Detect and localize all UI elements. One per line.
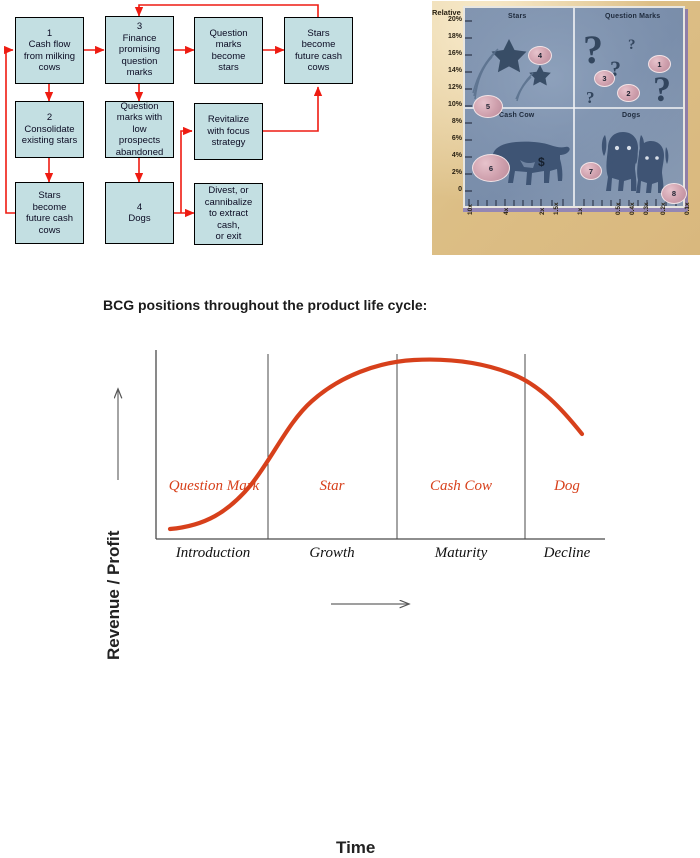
x-axis-title: Time [336, 838, 375, 858]
stage-label-maturity: Maturity [401, 545, 521, 562]
flow-box-question-marks-low-prospects-abandoned: Question marks with low prospects abando… [105, 101, 174, 158]
x-tick: 4x [503, 208, 510, 215]
flow-box-label: Question marks become stars [209, 28, 247, 74]
bcg-matrix-figure: ? ? ? ? ? $ [432, 1, 700, 255]
bubble-4: 4 [528, 46, 552, 65]
svg-text:?: ? [653, 69, 671, 109]
bubble-label: 6 [489, 164, 493, 173]
stage-label-decline: Decline [529, 545, 605, 562]
quadrant-label-question-marks: Question Marks [605, 13, 660, 20]
flow-box-dogs: 4 Dogs [105, 182, 174, 244]
bubble-label: 1 [657, 60, 661, 69]
phase-label-dog: Dog [529, 478, 605, 495]
quadrant-label-stars: Stars [508, 13, 527, 20]
bubble-1: 1 [648, 55, 671, 73]
quadrant-label-cash-cow: Cash Cow [499, 112, 534, 119]
flow-box-label: Question marks with low prospects abando… [116, 101, 164, 159]
bubble-7: 7 [580, 162, 602, 180]
x-tick: 0.2x [660, 202, 667, 215]
flow-box-stars-become-future-cash-cows-left: Stars become future cash cows [15, 182, 84, 244]
x-tick: 2x [539, 208, 546, 215]
phase-label-star: Star [272, 478, 392, 495]
flow-box-divest-or-cannibalize: Divest, or cannibalize to extract cash, … [194, 183, 263, 245]
y-tick: 0 [438, 186, 462, 193]
lifecycle-curve [170, 360, 582, 529]
y-tick: 6% [438, 135, 462, 142]
stage-label-introduction: Introduction [158, 545, 268, 562]
svg-text:?: ? [628, 37, 636, 53]
flow-box-stars-become-future-cash-cows-right: Stars become future cash cows [284, 17, 353, 84]
y-tick: 20% [438, 16, 462, 23]
x-tick: 0.4x [629, 202, 636, 215]
y-tick: 2% [438, 169, 462, 176]
quadrant-label-dogs: Dogs [622, 112, 640, 119]
bubble-label: 7 [589, 167, 593, 176]
flow-box-revitalize-with-focus-strategy: Revitalize with focus strategy [194, 103, 263, 160]
x-tick: 0.1x [684, 202, 691, 215]
y-axis-title: Revenue / Profit [104, 531, 124, 660]
flow-box-label: Divest, or cannibalize to extract cash, … [205, 185, 253, 243]
stage-label-growth: Growth [272, 545, 392, 562]
y-tick: 14% [438, 67, 462, 74]
x-tick: 0.3x [643, 202, 650, 215]
bubble-label: 5 [486, 102, 490, 111]
flow-box-consolidate-existing-stars: 2 Consolidate existing stars [15, 101, 84, 158]
x-tick: 10x [467, 204, 474, 215]
bubble-8: 8 [661, 183, 687, 204]
bubble-5: 5 [473, 95, 503, 118]
bubble-label: 2 [626, 89, 630, 98]
dollar-sign-icon: $ [538, 155, 545, 169]
bubble-label: 4 [538, 51, 542, 60]
y-tick: 4% [438, 152, 462, 159]
bubble-label: 3 [602, 74, 606, 83]
bubble-3: 3 [594, 70, 615, 87]
flow-box-label: Stars become future cash cows [26, 190, 73, 236]
phase-label-cash-cow: Cash Cow [401, 478, 521, 495]
x-tick: 1.5x [553, 202, 560, 215]
flow-box-label: 2 Consolidate existing stars [22, 112, 77, 147]
bcg-flowchart: 1 Cash flow from milking cows 2 Consolid… [0, 0, 400, 262]
flow-box-cash-flow-from-milking-cows: 1 Cash flow from milking cows [15, 17, 84, 84]
flow-box-label: Stars become future cash cows [295, 28, 342, 74]
bubble-2: 2 [617, 84, 640, 102]
bubble-6: 6 [472, 154, 510, 182]
flow-box-label: Revitalize with focus strategy [207, 114, 249, 149]
bcg-matrix-plot: ? ? ? ? ? $ [432, 1, 700, 255]
x-tick: 1x [577, 208, 584, 215]
y-tick: 8% [438, 118, 462, 125]
y-tick: 12% [438, 84, 462, 91]
flow-box-finance-promising-question-marks: 3 Finance promising question marks [105, 16, 174, 84]
flow-box-question-marks-become-stars: Question marks become stars [194, 17, 263, 84]
bubble-label: 8 [672, 189, 676, 198]
y-tick: 18% [438, 33, 462, 40]
x-tick: 0.5x [615, 202, 622, 215]
y-tick: 16% [438, 50, 462, 57]
y-tick: 10% [438, 101, 462, 108]
flow-box-label: 4 Dogs [128, 202, 150, 225]
flow-box-label: 3 Finance promising question marks [119, 21, 160, 79]
flow-box-label: 1 Cash flow from milking cows [24, 28, 75, 74]
phase-label-question-mark: Question Mark [162, 478, 266, 495]
product-life-cycle-chart: BCG positions throughout the product lif… [0, 262, 700, 631]
svg-text:?: ? [586, 88, 595, 107]
svg-text:?: ? [583, 27, 603, 72]
